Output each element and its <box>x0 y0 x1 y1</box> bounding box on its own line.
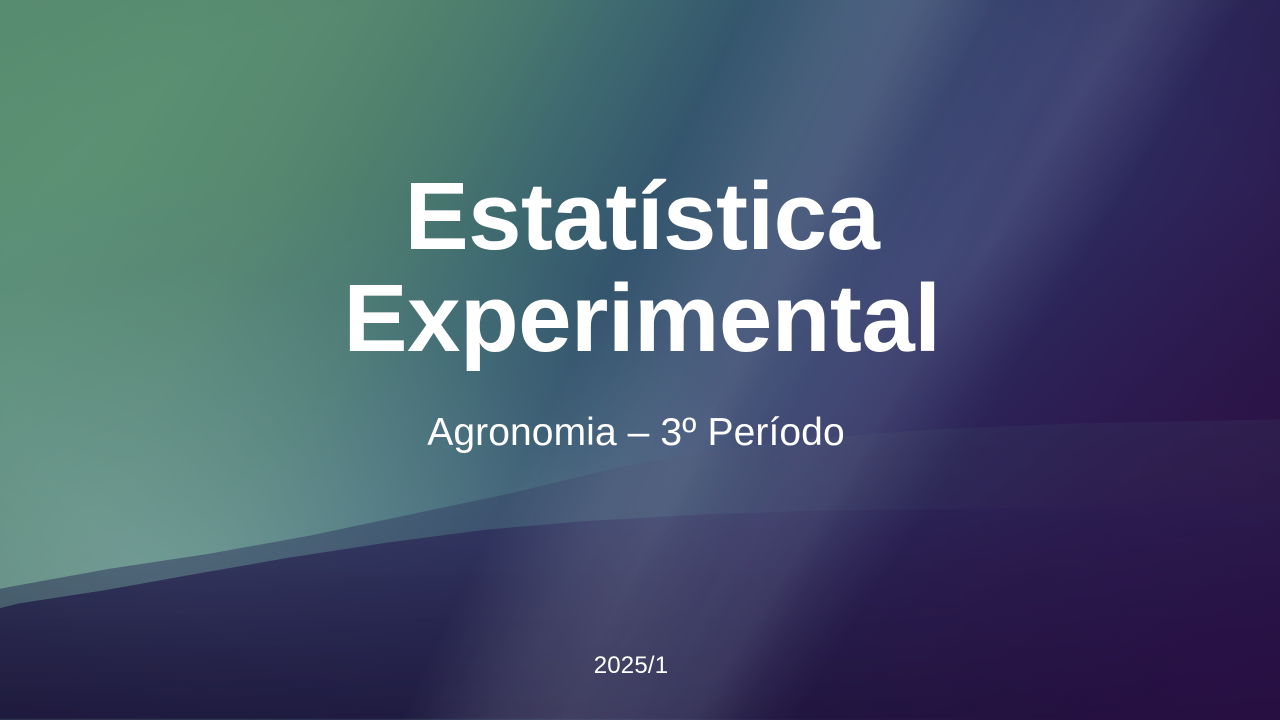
slide-footer-date: 2025/1 <box>0 652 1271 680</box>
title-line-2: Experimental <box>344 265 941 372</box>
page-title: EstatísticaExperimental <box>2 166 1280 370</box>
title-slide: EstatísticaExperimental Agronomia – 3º P… <box>0 0 1280 720</box>
title-line-1: Estatística <box>405 163 880 270</box>
slide-subtitle: Agronomia – 3º Período <box>0 409 1276 458</box>
slide-content: EstatísticaExperimental Agronomia – 3º P… <box>0 0 1280 720</box>
